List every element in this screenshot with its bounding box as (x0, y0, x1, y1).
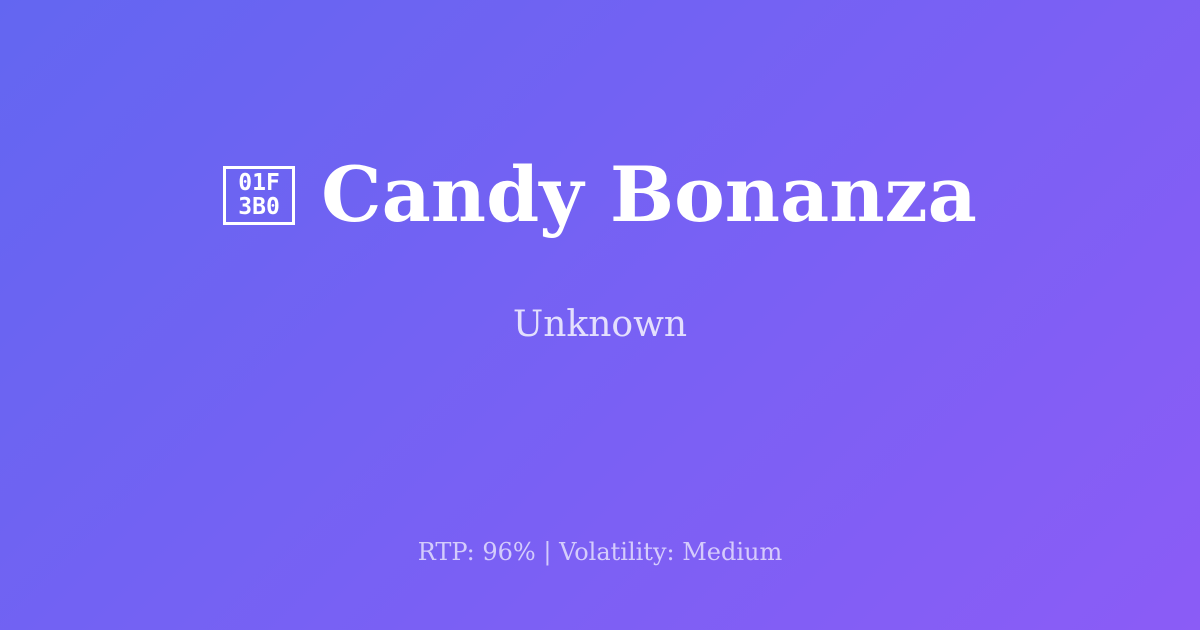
title-row: 01F 3B0 Candy Bonanza (223, 157, 977, 233)
og-share-card: 01F 3B0 Candy Bonanza Unknown RTP: 96% |… (0, 0, 1200, 630)
hero-block: 01F 3B0 Candy Bonanza Unknown (0, 0, 1200, 500)
slot-machine-icon-hex-bottom: 3B0 (238, 195, 280, 219)
game-stats-meta: RTP: 96% | Volatility: Medium (0, 540, 1200, 564)
slot-machine-icon-hex-top: 01F (238, 171, 280, 195)
page-subtitle: Unknown (513, 233, 687, 343)
page-title: Candy Bonanza (321, 157, 977, 233)
footer: RTP: 96% | Volatility: Medium (0, 540, 1200, 564)
slot-machine-icon: 01F 3B0 (223, 166, 295, 225)
